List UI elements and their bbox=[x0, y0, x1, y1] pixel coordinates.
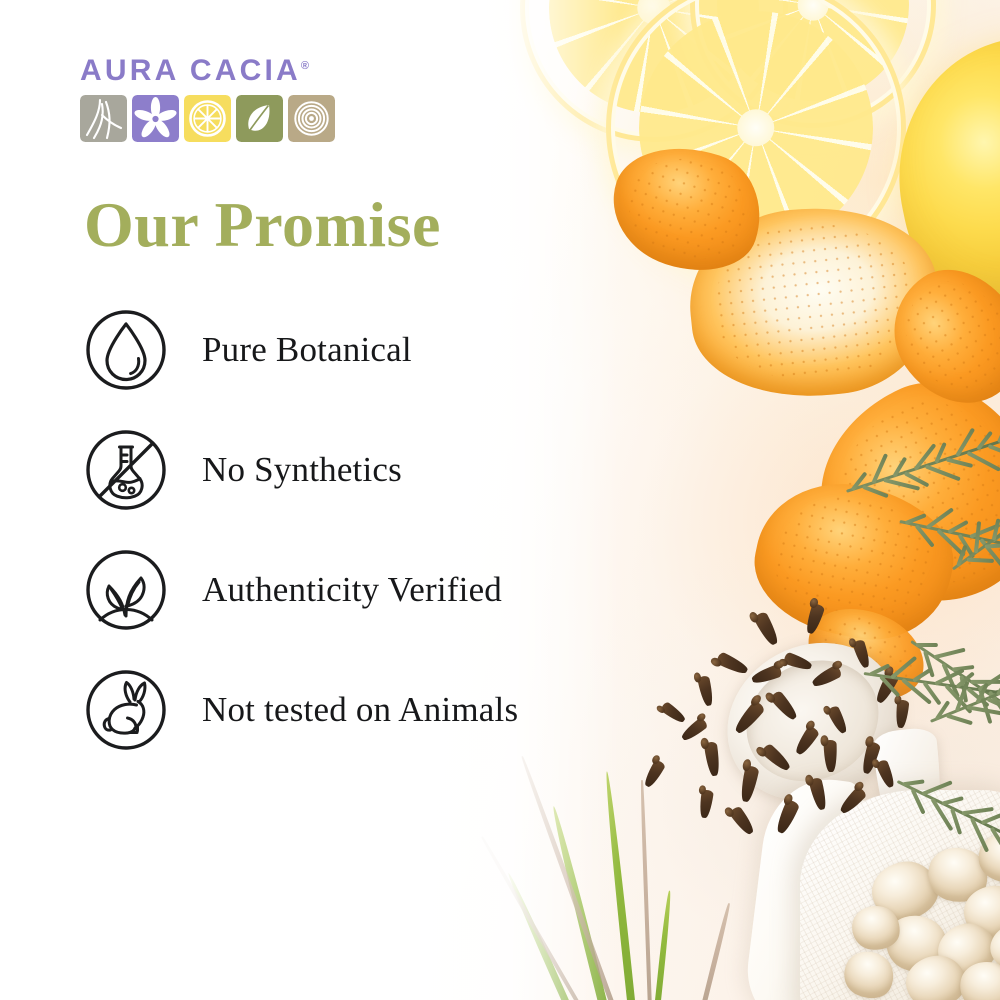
promise-item: Authenticity Verified bbox=[84, 545, 684, 635]
promise-label: No Synthetics bbox=[202, 450, 402, 490]
roots-tile bbox=[80, 95, 127, 142]
citrus-tile bbox=[184, 95, 231, 142]
promise-list: Pure Botanical bbox=[84, 305, 684, 755]
promo-image: AURA CACIA® bbox=[0, 0, 1000, 1000]
page-title: Our Promise bbox=[84, 193, 441, 257]
promise-label: Not tested on Animals bbox=[202, 690, 518, 730]
promise-label: Authenticity Verified bbox=[202, 570, 502, 610]
rabbit-icon bbox=[84, 668, 168, 752]
brand-wordmark-text: AURA CACIA bbox=[80, 54, 301, 87]
brand-logo[interactable]: AURA CACIA® bbox=[80, 56, 350, 142]
promise-label: Pure Botanical bbox=[202, 330, 412, 370]
brand-wordmark: AURA CACIA® bbox=[80, 56, 350, 86]
brand-tile-strip bbox=[80, 95, 350, 142]
registered-trademark-icon: ® bbox=[301, 60, 309, 72]
promise-item: Pure Botanical bbox=[84, 305, 684, 395]
rings-tile bbox=[288, 95, 335, 142]
no-flask-icon bbox=[84, 428, 168, 512]
promise-item: No Synthetics bbox=[84, 425, 684, 515]
sprout-icon bbox=[84, 548, 168, 632]
flower-tile bbox=[132, 95, 179, 142]
promise-item: Not tested on Animals bbox=[84, 665, 684, 755]
leaf-tile bbox=[236, 95, 283, 142]
droplet-icon bbox=[84, 308, 168, 392]
